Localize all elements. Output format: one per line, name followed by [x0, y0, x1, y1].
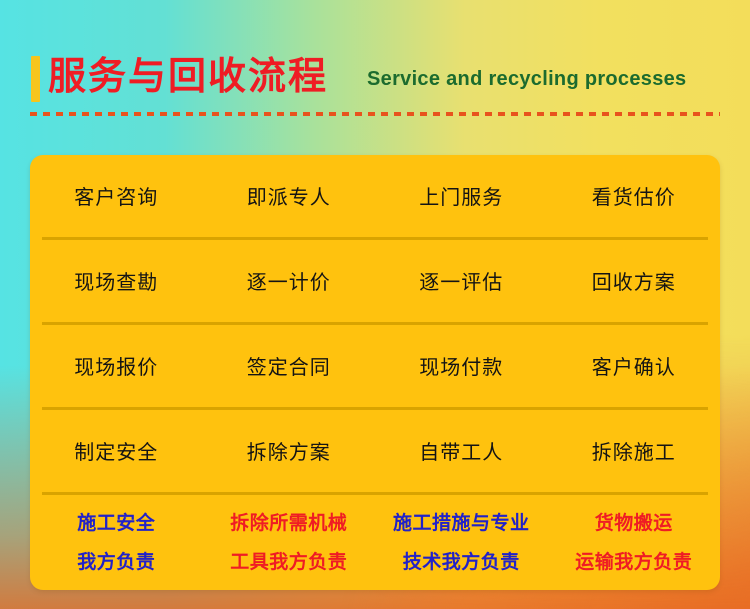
process-row: 现场查勘 逐一计价 逐一评估 回收方案 — [30, 240, 720, 325]
process-row: 现场报价 签定合同 现场付款 客户确认 — [30, 325, 720, 410]
header-dashed-divider — [30, 112, 720, 116]
process-step: 回收方案 — [548, 269, 721, 297]
responsibility-line-1: 施工措施与专业 — [375, 504, 548, 543]
page-title: 服务与回收流程 — [48, 52, 328, 102]
page-root: 服务与回收流程 Service and recycling processes … — [0, 0, 750, 609]
process-step: 现场报价 — [30, 354, 203, 382]
responsibility-line-1: 拆除所需机械 — [203, 504, 376, 543]
process-row: 客户咨询 即派专人 上门服务 看货估价 — [30, 155, 720, 240]
process-step: 拆除施工 — [548, 439, 721, 467]
responsibility-line-2: 技术我方负责 — [375, 543, 548, 582]
responsibility-line-1: 施工安全 — [30, 504, 203, 543]
title-accent-bar — [31, 56, 40, 102]
responsibility-item: 货物搬运 运输我方负责 — [548, 504, 721, 582]
page-header: 服务与回收流程 Service and recycling processes — [0, 0, 750, 125]
process-step: 逐一计价 — [203, 269, 376, 297]
responsibility-item: 施工措施与专业 技术我方负责 — [375, 504, 548, 582]
process-card: 客户咨询 即派专人 上门服务 看货估价 现场查勘 逐一计价 逐一评估 回收方案 … — [30, 155, 720, 590]
process-step: 客户确认 — [548, 354, 721, 382]
process-step: 看货估价 — [548, 184, 721, 212]
process-step: 现场查勘 — [30, 269, 203, 297]
responsibility-item: 拆除所需机械 工具我方负责 — [203, 504, 376, 582]
responsibility-line-2: 我方负责 — [30, 543, 203, 582]
responsibility-item: 施工安全 我方负责 — [30, 504, 203, 582]
responsibility-line-2: 工具我方负责 — [203, 543, 376, 582]
process-step: 制定安全 — [30, 439, 203, 467]
process-step: 逐一评估 — [375, 269, 548, 297]
process-step: 上门服务 — [375, 184, 548, 212]
process-step: 签定合同 — [203, 354, 376, 382]
responsibility-line-1: 货物搬运 — [548, 504, 721, 543]
responsibility-line-2: 运输我方负责 — [548, 543, 721, 582]
process-step: 即派专人 — [203, 184, 376, 212]
process-step: 拆除方案 — [203, 439, 376, 467]
page-subtitle: Service and recycling processes — [367, 66, 686, 92]
process-row: 制定安全 拆除方案 自带工人 拆除施工 — [30, 410, 720, 495]
process-step: 客户咨询 — [30, 184, 203, 212]
process-step: 自带工人 — [375, 439, 548, 467]
row-separator — [42, 492, 708, 495]
process-step: 现场付款 — [375, 354, 548, 382]
responsibility-row: 施工安全 我方负责 拆除所需机械 工具我方负责 施工措施与专业 技术我方负责 货… — [30, 495, 720, 590]
